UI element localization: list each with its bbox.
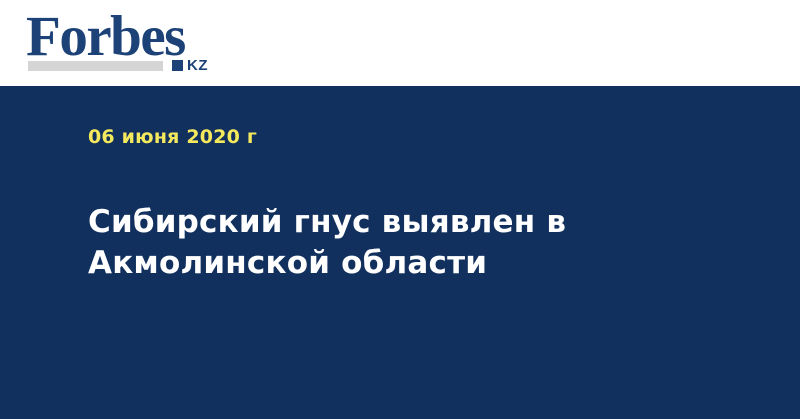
logo-kz-suffix: KZ — [187, 58, 208, 73]
forbes-kz-logo[interactable]: Forbes KZ — [26, 12, 226, 76]
logo-square-icon — [172, 60, 183, 71]
article-body: 06 июня 2020 г Сибирский гнус выявлен в … — [0, 86, 800, 419]
forbes-wordmark: Forbes — [26, 8, 185, 65]
site-header: Forbes KZ — [0, 0, 800, 86]
article-card: Forbes KZ 06 июня 2020 г Сибирский гнус … — [0, 0, 800, 419]
article-title: Сибирский гнус выявлен в Акмолинской обл… — [88, 202, 648, 284]
article-date: 06 июня 2020 г — [88, 128, 257, 147]
logo-underline-bar — [28, 61, 163, 71]
